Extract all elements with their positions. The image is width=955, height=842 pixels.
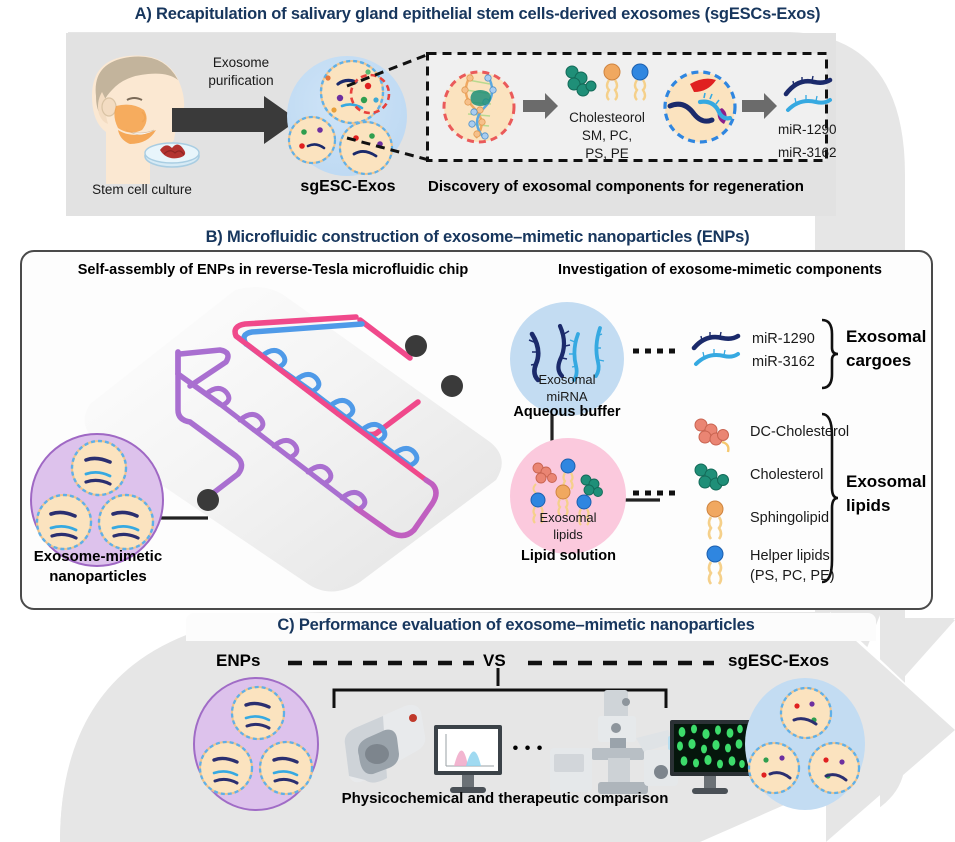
inset-mirna-vesicle-icon <box>660 62 740 152</box>
sgesc-exos-label: sgESC-Exos <box>268 178 428 196</box>
panel-c-caption: Physicochemical and therapeutic comparis… <box>295 790 715 807</box>
exosomal-cargoes-label-line1: Exosomal <box>846 327 926 347</box>
lipid-circle-label-line2: lipids <box>508 527 628 542</box>
cholesterol-icon <box>692 462 740 498</box>
panel-b-right-heading: Investigation of exosome-mimetic compone… <box>515 262 925 278</box>
inset-mirna-strands-icon <box>782 72 836 116</box>
monitor-chart-icon <box>432 723 504 797</box>
exosomal-lipids-label-line1: Exosomal <box>846 472 926 492</box>
cargo-mirna-3162-label: miR-3162 <box>752 354 815 370</box>
microscope-icon <box>548 688 688 800</box>
inset-mirna-3162-label: miR-3162 <box>778 145 837 160</box>
exosomal-cargoes-label-line2: cargoes <box>846 351 911 371</box>
cargo-mirna-glyphs <box>690 328 744 370</box>
inset-arrow-2 <box>742 92 778 120</box>
instrument-nta-icon <box>333 700 429 796</box>
cargo-mirna-1290-label: miR-1290 <box>752 331 815 347</box>
cholesterol-label: Cholesterol <box>750 467 823 483</box>
panel-a-title: A) Recapitulation of salivary gland epit… <box>0 5 955 24</box>
dc-cholesterol-icon <box>692 418 740 456</box>
lipid-circle-label-line1: Exosomal <box>508 510 628 525</box>
panel-c-right-label: sgESC-Exos <box>728 651 829 671</box>
inset-lipid-glyphs <box>562 62 652 108</box>
aqueous-circle-label-line2: miRNA <box>508 389 626 404</box>
inset-connector-lines <box>345 52 435 162</box>
sphingolipid-icon <box>700 500 730 542</box>
panel-c-left-label: ENPs <box>216 651 260 671</box>
inset-dna-vesicle-icon <box>440 62 518 152</box>
enp-output-label-line1: Exosome-mimetic <box>12 548 184 565</box>
exosomal-lipids-bracket <box>818 412 840 584</box>
panel-c-sgesc-exos-cluster <box>742 676 868 812</box>
stem-cell-culture-label: Stem cell culture <box>72 182 212 197</box>
inset-lipid-text-line2: SM, PC, <box>552 128 662 143</box>
panel-b-left-heading: Self-assembly of ENPs in reverse-Tesla m… <box>38 262 508 278</box>
cargo-dotted-connector <box>633 345 685 357</box>
lipid-solution-caption: Lipid solution <box>496 548 641 564</box>
inset-lipid-text-line3: PS, PE <box>552 146 662 161</box>
aqueous-circle-label-line1: Exosomal <box>508 372 626 387</box>
exosomal-cargoes-bracket <box>818 318 840 390</box>
inset-lipid-text-line1: Cholesteorol <box>552 110 662 125</box>
comparison-dashed-right <box>528 658 718 668</box>
panel-c-title: C) Performance evaluation of exosome–mim… <box>186 616 846 635</box>
helper-lipids-icon <box>700 545 730 587</box>
aqueous-buffer-caption: Aqueous buffer <box>492 404 642 420</box>
comparison-dashed-left <box>288 658 478 668</box>
lipid-dotted-connector <box>633 487 685 499</box>
panel-a-inset-caption: Discovery of exosomal components for reg… <box>428 178 804 195</box>
panel-c-ellipsis: • • • <box>508 740 548 758</box>
panel-b-title: B) Microfluidic construction of exosome–… <box>0 228 955 247</box>
exosomal-lipids-label-line2: lipids <box>846 496 890 516</box>
inset-mirna-1290-label: miR-1290 <box>778 122 837 137</box>
enp-output-label-line2: nanoparticles <box>12 568 184 585</box>
